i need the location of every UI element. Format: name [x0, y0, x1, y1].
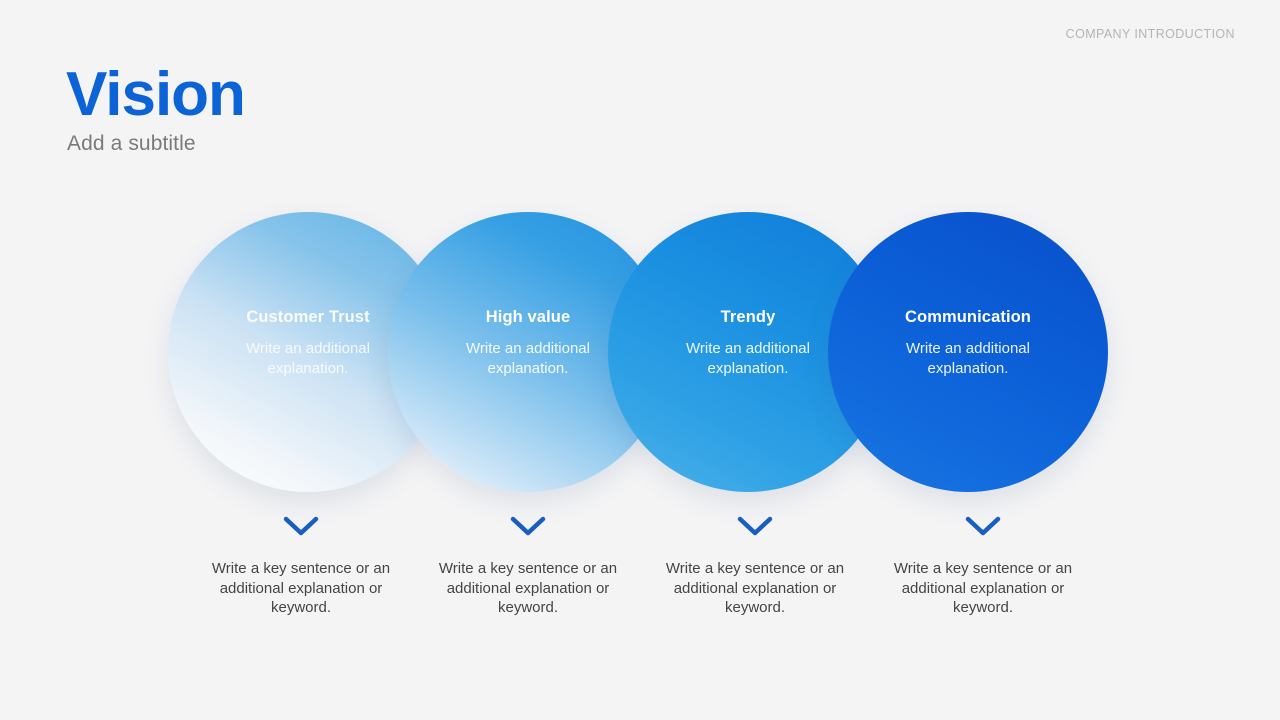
- chevron-down-icon: [965, 515, 1001, 537]
- callout-caption-4: Write a key sentence or an additional ex…: [873, 559, 1093, 618]
- slide-canvas: COMPANY INTRODUCTION Vision Add a subtit…: [0, 0, 1280, 720]
- circle-title-2: High value: [486, 308, 570, 327]
- chevron-down-icon: [737, 515, 773, 537]
- callout-1: Write a key sentence or an additional ex…: [191, 515, 411, 618]
- circle-title-1: Customer Trust: [246, 308, 369, 327]
- circle-title-4: Communication: [905, 308, 1031, 327]
- callout-caption-1: Write a key sentence or an additional ex…: [191, 559, 411, 618]
- callout-caption-3: Write a key sentence or an additional ex…: [645, 559, 865, 618]
- callout-3: Write a key sentence or an additional ex…: [645, 515, 865, 618]
- circle-description-2: Write an additional explanation.: [428, 339, 628, 379]
- callout-2: Write a key sentence or an additional ex…: [418, 515, 638, 618]
- circle-item-4[interactable]: Communication Write an additional explan…: [828, 212, 1108, 492]
- callout-caption-2: Write a key sentence or an additional ex…: [418, 559, 638, 618]
- chevron-down-icon: [510, 515, 546, 537]
- chevron-down-icon: [283, 515, 319, 537]
- circle-description-1: Write an additional explanation.: [208, 339, 408, 379]
- page-title: Vision: [66, 62, 245, 127]
- eyebrow-label: COMPANY INTRODUCTION: [1066, 27, 1235, 41]
- circle-description-4: Write an additional explanation.: [868, 339, 1068, 379]
- callout-4: Write a key sentence or an additional ex…: [873, 515, 1093, 618]
- circle-description-3: Write an additional explanation.: [648, 339, 848, 379]
- page-subtitle: Add a subtitle: [67, 132, 196, 156]
- circle-title-3: Trendy: [721, 308, 776, 327]
